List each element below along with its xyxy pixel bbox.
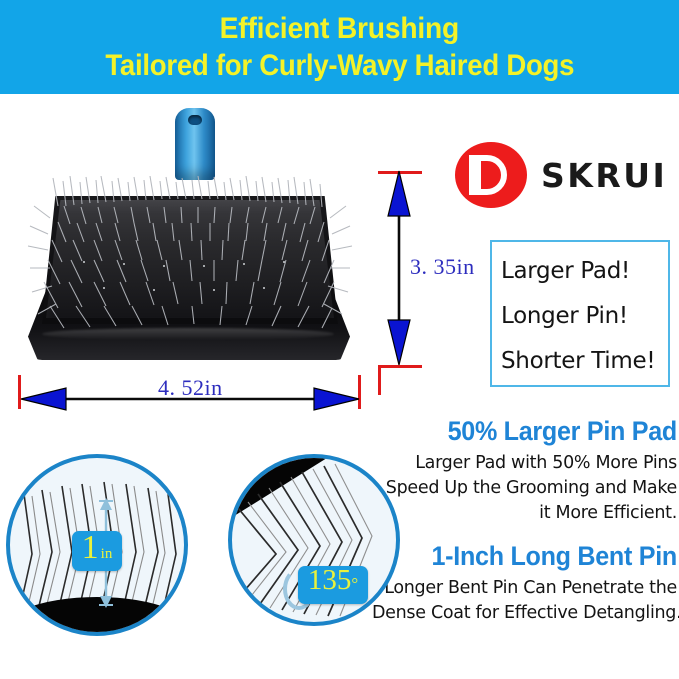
badge-one-inch: 1 in: [72, 531, 122, 571]
logo-d-bowl: [475, 155, 507, 195]
badge-angle: 135 °: [298, 566, 368, 604]
header-title-line-2: Tailored for Curly-Wavy Haired Dogs: [105, 47, 574, 85]
feature-1-body-line-2: Speed Up the Grooming and Make: [372, 476, 677, 501]
header-title-line-1: Efficient Brushing: [220, 11, 459, 47]
brand-name: SKRUI: [541, 156, 667, 195]
highlight-item-2: Longer Pin!: [501, 294, 668, 339]
height-value-label: 3. 35in: [410, 254, 475, 280]
feature-bent-pin: 1-Inch Long Bent Pin Longer Bent Pin Can…: [372, 540, 677, 626]
brush-pad-assembly: [24, 176, 354, 361]
badge-one-inch-value: 1: [82, 531, 99, 565]
product-infographic: Efficient Brushing Tailored for Curly-Wa…: [0, 0, 679, 679]
corner-extension-line: [378, 365, 381, 395]
feature-larger-pin-pad: 50% Larger Pin Pad Larger Pad with 50% M…: [372, 415, 677, 526]
brush-pins: [24, 176, 354, 361]
feature-1-body-line-1: Larger Pad with 50% More Pins: [372, 451, 677, 476]
feature-1-body: Larger Pad with 50% More Pins Speed Up t…: [372, 451, 677, 526]
brush-handle: [175, 108, 215, 180]
slicker-brush-image: [0, 94, 380, 384]
badge-angle-value: 135: [308, 566, 352, 595]
highlight-item-1: Larger Pad!: [501, 249, 668, 294]
width-value-label: 4. 52in: [158, 375, 223, 401]
width-dimension: 4. 52in: [18, 375, 378, 420]
product-photo: [0, 94, 400, 394]
feature-2-body: Longer Bent Pin Can Penetrate the Dense …: [372, 576, 677, 626]
header-banner: Efficient Brushing Tailored for Curly-Wa…: [0, 0, 679, 94]
badge-one-inch-unit: in: [101, 546, 113, 563]
feature-1-heading: 50% Larger Pin Pad: [393, 415, 677, 447]
handle-hang-hole: [188, 115, 202, 125]
feature-1-body-line-3: it More Efficient.: [372, 501, 677, 526]
feature-2-body-line-1: Longer Bent Pin Can Penetrate the: [372, 576, 677, 601]
feature-2-heading: 1-Inch Long Bent Pin: [393, 540, 677, 572]
brand-logo: SKRUI: [455, 140, 670, 210]
badge-angle-unit: °: [351, 574, 358, 594]
highlight-item-3: Shorter Time!: [501, 339, 668, 384]
skrui-d-icon: [455, 142, 527, 208]
highlights-box: Larger Pad! Longer Pin! Shorter Time!: [490, 240, 670, 387]
feature-2-body-line-2: Dense Coat for Effective Detangling.: [372, 601, 677, 626]
